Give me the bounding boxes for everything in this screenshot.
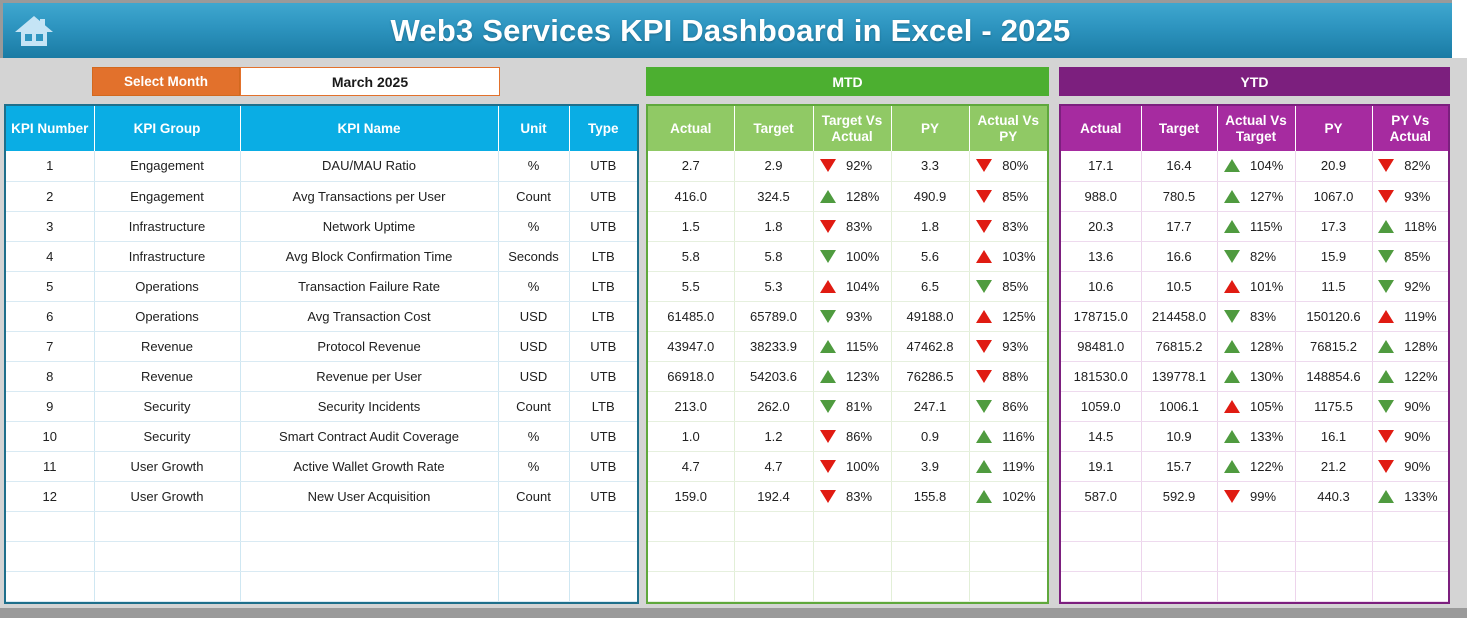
mtd-actual-vs-py-cell: 116% bbox=[969, 421, 1047, 451]
kpi-type-cell: UTB bbox=[569, 211, 637, 241]
kpi-unit-cell: USD bbox=[498, 301, 569, 331]
kpi-type-cell: LTB bbox=[569, 241, 637, 271]
empty-cell bbox=[240, 511, 498, 541]
table-row: 5.85.8100%5.6103% bbox=[648, 241, 1047, 271]
ytd-actual-vs-target-cell: 133% bbox=[1217, 421, 1295, 451]
kpi-number-cell: 4 bbox=[6, 241, 94, 271]
table-row: 2EngagementAvg Transactions per UserCoun… bbox=[6, 181, 637, 211]
table-row: 14.510.9133%16.190% bbox=[1061, 421, 1448, 451]
trend-down-icon bbox=[976, 220, 992, 233]
kpi-group-cell: User Growth bbox=[94, 481, 240, 511]
empty-cell bbox=[1295, 571, 1372, 601]
kpi-name-cell: New User Acquisition bbox=[240, 481, 498, 511]
dashboard-root: Web3 Services KPI Dashboard in Excel - 2… bbox=[0, 0, 1467, 618]
kpi-number-cell: 1 bbox=[6, 151, 94, 181]
trend-up-icon bbox=[1378, 340, 1394, 353]
trend-percent: 128% bbox=[846, 189, 884, 204]
trend-down-icon bbox=[1224, 310, 1240, 323]
kpi-unit-cell: Count bbox=[498, 481, 569, 511]
ytd-py-cell: 15.9 bbox=[1295, 241, 1372, 271]
trend-down-icon bbox=[976, 370, 992, 383]
mtd-header-row: Actual Target Target Vs Actual PY Actual… bbox=[648, 106, 1047, 151]
trend-up-icon bbox=[1224, 190, 1240, 203]
trend-up-icon bbox=[976, 430, 992, 443]
kpi-type-cell: LTB bbox=[569, 271, 637, 301]
trend-percent: 81% bbox=[846, 399, 884, 414]
table-row-empty bbox=[648, 541, 1047, 571]
kpi-unit-cell: Seconds bbox=[498, 241, 569, 271]
ytd-target-cell: 16.6 bbox=[1141, 241, 1217, 271]
trend-percent: 105% bbox=[1250, 399, 1288, 414]
kpi-group-cell: User Growth bbox=[94, 451, 240, 481]
trend-down-icon bbox=[976, 159, 992, 172]
mtd-py-cell: 5.6 bbox=[891, 241, 969, 271]
kpi-unit-cell: % bbox=[498, 211, 569, 241]
trend-percent: 85% bbox=[1002, 279, 1040, 294]
table-row: 1EngagementDAU/MAU Ratio%UTB bbox=[6, 151, 637, 181]
empty-cell bbox=[1372, 511, 1448, 541]
table-row-empty bbox=[648, 571, 1047, 601]
trend-percent: 123% bbox=[846, 369, 884, 384]
table-row: 587.0592.999%440.3133% bbox=[1061, 481, 1448, 511]
ytd-actual-vs-target-cell: 127% bbox=[1217, 181, 1295, 211]
ytd-actual-vs-target-cell: 122% bbox=[1217, 451, 1295, 481]
mtd-actual-cell: 5.8 bbox=[648, 241, 734, 271]
mtd-actual-cell: 1.0 bbox=[648, 421, 734, 451]
kpi-number-cell: 3 bbox=[6, 211, 94, 241]
empty-cell bbox=[1372, 541, 1448, 571]
mtd-target-vs-actual-cell: 100% bbox=[813, 241, 891, 271]
table-row-empty bbox=[648, 511, 1047, 541]
mtd-target-cell: 262.0 bbox=[734, 391, 813, 421]
ytd-py-vs-actual-cell: 82% bbox=[1372, 151, 1448, 181]
table-row: 178715.0214458.083%150120.6119% bbox=[1061, 301, 1448, 331]
table-row: 3InfrastructureNetwork Uptime%UTB bbox=[6, 211, 637, 241]
empty-cell bbox=[1295, 541, 1372, 571]
table-row-empty bbox=[6, 541, 637, 571]
kpi-number-cell: 5 bbox=[6, 271, 94, 301]
ytd-actual-cell: 19.1 bbox=[1061, 451, 1141, 481]
mtd-py-cell: 0.9 bbox=[891, 421, 969, 451]
table-row: 1.51.883%1.883% bbox=[648, 211, 1047, 241]
empty-cell bbox=[734, 571, 813, 601]
mtd-target-cell: 54203.6 bbox=[734, 361, 813, 391]
kpi-name-cell: DAU/MAU Ratio bbox=[240, 151, 498, 181]
ytd-actual-vs-target-cell: 82% bbox=[1217, 241, 1295, 271]
empty-cell bbox=[813, 511, 891, 541]
kpi-name-cell: Transaction Failure Rate bbox=[240, 271, 498, 301]
empty-cell bbox=[648, 541, 734, 571]
kpi-type-cell: UTB bbox=[569, 361, 637, 391]
ytd-py-cell: 16.1 bbox=[1295, 421, 1372, 451]
trend-down-icon bbox=[1378, 460, 1394, 473]
trend-down-icon bbox=[820, 220, 836, 233]
ytd-actual-cell: 178715.0 bbox=[1061, 301, 1141, 331]
kpi-group-cell: Engagement bbox=[94, 151, 240, 181]
mtd-target-vs-actual-cell: 100% bbox=[813, 451, 891, 481]
empty-cell bbox=[498, 571, 569, 601]
trend-down-icon bbox=[820, 159, 836, 172]
trend-percent: 93% bbox=[1404, 189, 1442, 204]
kpi-unit-cell: Count bbox=[498, 391, 569, 421]
mtd-target-cell: 1.2 bbox=[734, 421, 813, 451]
mtd-py-cell: 1.8 bbox=[891, 211, 969, 241]
trend-percent: 100% bbox=[846, 249, 884, 264]
ytd-actual-cell: 988.0 bbox=[1061, 181, 1141, 211]
empty-cell bbox=[1372, 571, 1448, 601]
trend-percent: 119% bbox=[1404, 309, 1442, 324]
kpi-group-cell: Engagement bbox=[94, 181, 240, 211]
trend-percent: 83% bbox=[1250, 309, 1288, 324]
empty-cell bbox=[813, 541, 891, 571]
table-row: 5OperationsTransaction Failure Rate%LTB bbox=[6, 271, 637, 301]
trend-down-icon bbox=[1378, 430, 1394, 443]
empty-cell bbox=[734, 541, 813, 571]
trend-percent: 85% bbox=[1002, 189, 1040, 204]
ytd-band-header: YTD bbox=[1059, 67, 1450, 96]
mtd-target-vs-actual-cell: 86% bbox=[813, 421, 891, 451]
col-ytd-actual-vs-target[interactable]: Actual Vs Target bbox=[1217, 106, 1295, 151]
trend-percent: 128% bbox=[1250, 339, 1288, 354]
ytd-target-cell: 10.9 bbox=[1141, 421, 1217, 451]
trend-down-icon bbox=[820, 250, 836, 263]
ytd-body: 17.116.4104%20.982%988.0780.5127%1067.09… bbox=[1061, 151, 1448, 601]
mtd-target-vs-actual-cell: 115% bbox=[813, 331, 891, 361]
empty-cell bbox=[1141, 511, 1217, 541]
home-icon[interactable] bbox=[13, 12, 55, 50]
trend-down-icon bbox=[1378, 250, 1394, 263]
kpi-name-cell: Active Wallet Growth Rate bbox=[240, 451, 498, 481]
mtd-target-vs-actual-cell: 81% bbox=[813, 391, 891, 421]
mtd-actual-cell: 1.5 bbox=[648, 211, 734, 241]
trend-down-icon bbox=[820, 460, 836, 473]
trend-percent: 99% bbox=[1250, 489, 1288, 504]
ytd-target-cell: 15.7 bbox=[1141, 451, 1217, 481]
mtd-actual-cell: 61485.0 bbox=[648, 301, 734, 331]
trend-up-icon bbox=[820, 340, 836, 353]
trend-up-icon bbox=[1224, 370, 1240, 383]
trend-up-icon bbox=[1378, 310, 1394, 323]
table-row: 13.616.682%15.985% bbox=[1061, 241, 1448, 271]
trend-down-icon bbox=[1378, 280, 1394, 293]
empty-cell bbox=[6, 511, 94, 541]
mtd-target-cell: 1.8 bbox=[734, 211, 813, 241]
ytd-py-cell: 20.9 bbox=[1295, 151, 1372, 181]
kpi-name-cell: Network Uptime bbox=[240, 211, 498, 241]
table-row: 1.01.286%0.9116% bbox=[648, 421, 1047, 451]
trend-percent: 80% bbox=[1002, 158, 1040, 173]
mtd-actual-cell: 159.0 bbox=[648, 481, 734, 511]
trend-percent: 85% bbox=[1404, 249, 1442, 264]
trend-percent: 88% bbox=[1002, 369, 1040, 384]
trend-percent: 83% bbox=[846, 219, 884, 234]
ytd-py-vs-actual-cell: 90% bbox=[1372, 451, 1448, 481]
mtd-actual-cell: 5.5 bbox=[648, 271, 734, 301]
titlebar-right-pad bbox=[1452, 0, 1467, 58]
col-mtd-target-vs-actual[interactable]: Target Vs Actual bbox=[813, 106, 891, 151]
ytd-table: Actual Target Actual Vs Target PY PY Vs … bbox=[1061, 106, 1448, 602]
col-kpi-number[interactable]: KPI Number bbox=[6, 106, 94, 151]
ytd-py-cell: 17.3 bbox=[1295, 211, 1372, 241]
table-row: 8RevenueRevenue per UserUSDUTB bbox=[6, 361, 637, 391]
bottom-bar bbox=[0, 608, 1467, 618]
table-row: 66918.054203.6123%76286.588% bbox=[648, 361, 1047, 391]
table-row-empty bbox=[6, 511, 637, 541]
ytd-actual-vs-target-cell: 128% bbox=[1217, 331, 1295, 361]
trend-down-icon bbox=[820, 400, 836, 413]
col-ytd-py[interactable]: PY bbox=[1295, 106, 1372, 151]
table-row-empty bbox=[1061, 541, 1448, 571]
trend-percent: 83% bbox=[846, 489, 884, 504]
col-ytd-py-vs-actual[interactable]: PY Vs Actual bbox=[1372, 106, 1448, 151]
kpi-unit-cell: % bbox=[498, 421, 569, 451]
ytd-actual-cell: 13.6 bbox=[1061, 241, 1141, 271]
mtd-py-cell: 3.9 bbox=[891, 451, 969, 481]
ytd-actual-vs-target-cell: 105% bbox=[1217, 391, 1295, 421]
trend-down-icon bbox=[976, 340, 992, 353]
mtd-py-cell: 49188.0 bbox=[891, 301, 969, 331]
ytd-actual-vs-target-cell: 101% bbox=[1217, 271, 1295, 301]
ytd-py-vs-actual-cell: 92% bbox=[1372, 271, 1448, 301]
ytd-actual-cell: 10.6 bbox=[1061, 271, 1141, 301]
trend-down-icon bbox=[820, 430, 836, 443]
empty-cell bbox=[498, 511, 569, 541]
mtd-actual-vs-py-cell: 85% bbox=[969, 181, 1047, 211]
kpi-definition-header-row: KPI Number KPI Group KPI Name Unit Type bbox=[6, 106, 637, 151]
mtd-actual-cell: 43947.0 bbox=[648, 331, 734, 361]
col-mtd-actual[interactable]: Actual bbox=[648, 106, 734, 151]
kpi-number-cell: 10 bbox=[6, 421, 94, 451]
mtd-py-cell: 6.5 bbox=[891, 271, 969, 301]
trend-up-icon bbox=[1378, 370, 1394, 383]
ytd-target-cell: 139778.1 bbox=[1141, 361, 1217, 391]
kpi-name-cell: Avg Transaction Cost bbox=[240, 301, 498, 331]
ytd-target-cell: 17.7 bbox=[1141, 211, 1217, 241]
ytd-py-cell: 1175.5 bbox=[1295, 391, 1372, 421]
empty-cell bbox=[969, 571, 1047, 601]
kpi-name-cell: Protocol Revenue bbox=[240, 331, 498, 361]
ytd-target-cell: 10.5 bbox=[1141, 271, 1217, 301]
mtd-py-cell: 76286.5 bbox=[891, 361, 969, 391]
table-row: 61485.065789.093%49188.0125% bbox=[648, 301, 1047, 331]
kpi-name-cell: Avg Block Confirmation Time bbox=[240, 241, 498, 271]
trend-up-icon bbox=[1378, 490, 1394, 503]
col-kpi-name[interactable]: KPI Name bbox=[240, 106, 498, 151]
trend-percent: 122% bbox=[1250, 459, 1288, 474]
table-row-empty bbox=[1061, 511, 1448, 541]
kpi-unit-cell: USD bbox=[498, 331, 569, 361]
kpi-group-cell: Operations bbox=[94, 271, 240, 301]
month-selector[interactable]: March 2025 bbox=[240, 67, 500, 96]
kpi-definition-block: KPI Number KPI Group KPI Name Unit Type … bbox=[4, 104, 639, 604]
col-mtd-actual-vs-py[interactable]: Actual Vs PY bbox=[969, 106, 1047, 151]
kpi-type-cell: UTB bbox=[569, 451, 637, 481]
mtd-body: 2.72.992%3.380%416.0324.5128%490.985%1.5… bbox=[648, 151, 1047, 601]
trend-percent: 122% bbox=[1404, 369, 1442, 384]
kpi-unit-cell: % bbox=[498, 271, 569, 301]
ytd-actual-vs-target-cell: 83% bbox=[1217, 301, 1295, 331]
kpi-definition-body: 1EngagementDAU/MAU Ratio%UTB2EngagementA… bbox=[6, 151, 637, 601]
ytd-py-vs-actual-cell: 128% bbox=[1372, 331, 1448, 361]
page-title: Web3 Services KPI Dashboard in Excel - 2… bbox=[3, 13, 1452, 49]
ytd-py-vs-actual-cell: 133% bbox=[1372, 481, 1448, 511]
empty-cell bbox=[569, 511, 637, 541]
ytd-py-vs-actual-cell: 119% bbox=[1372, 301, 1448, 331]
table-row: 10SecuritySmart Contract Audit Coverage%… bbox=[6, 421, 637, 451]
col-mtd-target[interactable]: Target bbox=[734, 106, 813, 151]
trend-percent: 102% bbox=[1002, 489, 1040, 504]
ytd-target-cell: 214458.0 bbox=[1141, 301, 1217, 331]
mtd-target-cell: 5.3 bbox=[734, 271, 813, 301]
mtd-actual-vs-py-cell: 86% bbox=[969, 391, 1047, 421]
col-ytd-target[interactable]: Target bbox=[1141, 106, 1217, 151]
trend-up-icon bbox=[820, 190, 836, 203]
trend-up-icon bbox=[976, 250, 992, 263]
mtd-actual-vs-py-cell: 125% bbox=[969, 301, 1047, 331]
trend-up-icon bbox=[1224, 280, 1240, 293]
trend-percent: 116% bbox=[1002, 429, 1040, 444]
mtd-target-cell: 65789.0 bbox=[734, 301, 813, 331]
kpi-number-cell: 8 bbox=[6, 361, 94, 391]
col-ytd-actual[interactable]: Actual bbox=[1061, 106, 1141, 151]
col-kpi-group[interactable]: KPI Group bbox=[94, 106, 240, 151]
empty-cell bbox=[969, 541, 1047, 571]
empty-cell bbox=[569, 571, 637, 601]
trend-percent: 101% bbox=[1250, 279, 1288, 294]
empty-cell bbox=[240, 541, 498, 571]
trend-up-icon bbox=[976, 490, 992, 503]
trend-percent: 119% bbox=[1002, 459, 1040, 474]
empty-cell bbox=[1217, 571, 1295, 601]
mtd-actual-vs-py-cell: 102% bbox=[969, 481, 1047, 511]
mtd-actual-cell: 213.0 bbox=[648, 391, 734, 421]
ytd-py-cell: 11.5 bbox=[1295, 271, 1372, 301]
mtd-target-vs-actual-cell: 128% bbox=[813, 181, 891, 211]
table-row: 43947.038233.9115%47462.893% bbox=[648, 331, 1047, 361]
empty-cell bbox=[648, 511, 734, 541]
trend-down-icon bbox=[976, 400, 992, 413]
mtd-table: Actual Target Target Vs Actual PY Actual… bbox=[648, 106, 1047, 602]
trend-percent: 130% bbox=[1250, 369, 1288, 384]
mtd-py-cell: 155.8 bbox=[891, 481, 969, 511]
mtd-target-cell: 5.8 bbox=[734, 241, 813, 271]
ytd-actual-vs-target-cell: 115% bbox=[1217, 211, 1295, 241]
trend-percent: 90% bbox=[1404, 399, 1442, 414]
ytd-actual-cell: 98481.0 bbox=[1061, 331, 1141, 361]
mtd-actual-vs-py-cell: 119% bbox=[969, 451, 1047, 481]
empty-cell bbox=[240, 571, 498, 601]
ytd-py-cell: 148854.6 bbox=[1295, 361, 1372, 391]
ytd-py-vs-actual-cell: 118% bbox=[1372, 211, 1448, 241]
table-row-empty bbox=[1061, 571, 1448, 601]
kpi-type-cell: UTB bbox=[569, 481, 637, 511]
ytd-py-vs-actual-cell: 122% bbox=[1372, 361, 1448, 391]
kpi-group-cell: Security bbox=[94, 421, 240, 451]
mtd-py-cell: 490.9 bbox=[891, 181, 969, 211]
ytd-py-vs-actual-cell: 93% bbox=[1372, 181, 1448, 211]
kpi-group-cell: Infrastructure bbox=[94, 211, 240, 241]
ytd-actual-vs-target-cell: 99% bbox=[1217, 481, 1295, 511]
mtd-target-vs-actual-cell: 83% bbox=[813, 211, 891, 241]
trend-percent: 133% bbox=[1250, 429, 1288, 444]
table-row: 181530.0139778.1130%148854.6122% bbox=[1061, 361, 1448, 391]
ytd-py-vs-actual-cell: 85% bbox=[1372, 241, 1448, 271]
kpi-group-cell: Revenue bbox=[94, 361, 240, 391]
empty-cell bbox=[1061, 511, 1141, 541]
kpi-unit-cell: Count bbox=[498, 181, 569, 211]
table-row: 5.55.3104%6.585% bbox=[648, 271, 1047, 301]
table-row: 2.72.992%3.380% bbox=[648, 151, 1047, 181]
ytd-py-cell: 21.2 bbox=[1295, 451, 1372, 481]
kpi-unit-cell: USD bbox=[498, 361, 569, 391]
mtd-actual-vs-py-cell: 88% bbox=[969, 361, 1047, 391]
empty-cell bbox=[498, 541, 569, 571]
trend-percent: 100% bbox=[846, 459, 884, 474]
table-row: 159.0192.483%155.8102% bbox=[648, 481, 1047, 511]
kpi-type-cell: UTB bbox=[569, 331, 637, 361]
table-row: 6OperationsAvg Transaction CostUSDLTB bbox=[6, 301, 637, 331]
kpi-group-cell: Infrastructure bbox=[94, 241, 240, 271]
ytd-py-vs-actual-cell: 90% bbox=[1372, 421, 1448, 451]
kpi-unit-cell: % bbox=[498, 151, 569, 181]
trend-up-icon bbox=[1378, 220, 1394, 233]
col-type[interactable]: Type bbox=[569, 106, 637, 151]
kpi-group-cell: Operations bbox=[94, 301, 240, 331]
empty-cell bbox=[648, 571, 734, 601]
trend-percent: 93% bbox=[1002, 339, 1040, 354]
col-mtd-py[interactable]: PY bbox=[891, 106, 969, 151]
empty-cell bbox=[969, 511, 1047, 541]
select-month-label: Select Month bbox=[92, 67, 240, 96]
table-row: 11User GrowthActive Wallet Growth Rate%U… bbox=[6, 451, 637, 481]
mtd-target-cell: 38233.9 bbox=[734, 331, 813, 361]
mtd-block: Actual Target Target Vs Actual PY Actual… bbox=[646, 104, 1049, 604]
trend-up-icon bbox=[976, 460, 992, 473]
table-row: 1059.01006.1105%1175.590% bbox=[1061, 391, 1448, 421]
trend-down-icon bbox=[820, 490, 836, 503]
mtd-actual-vs-py-cell: 80% bbox=[969, 151, 1047, 181]
ytd-target-cell: 76815.2 bbox=[1141, 331, 1217, 361]
trend-down-icon bbox=[1378, 400, 1394, 413]
mtd-target-vs-actual-cell: 104% bbox=[813, 271, 891, 301]
mtd-actual-vs-py-cell: 85% bbox=[969, 271, 1047, 301]
empty-cell bbox=[1061, 571, 1141, 601]
ytd-actual-cell: 14.5 bbox=[1061, 421, 1141, 451]
empty-cell bbox=[734, 511, 813, 541]
kpi-group-cell: Revenue bbox=[94, 331, 240, 361]
mtd-actual-vs-py-cell: 83% bbox=[969, 211, 1047, 241]
empty-cell bbox=[813, 571, 891, 601]
kpi-type-cell: UTB bbox=[569, 421, 637, 451]
empty-cell bbox=[1141, 541, 1217, 571]
trend-percent: 86% bbox=[846, 429, 884, 444]
empty-cell bbox=[1295, 511, 1372, 541]
trend-percent: 93% bbox=[846, 309, 884, 324]
col-unit[interactable]: Unit bbox=[498, 106, 569, 151]
kpi-number-cell: 6 bbox=[6, 301, 94, 331]
trend-percent: 104% bbox=[846, 279, 884, 294]
trend-percent: 115% bbox=[1250, 219, 1288, 234]
ytd-target-cell: 592.9 bbox=[1141, 481, 1217, 511]
table-row: 988.0780.5127%1067.093% bbox=[1061, 181, 1448, 211]
trend-down-icon bbox=[1224, 250, 1240, 263]
mtd-actual-cell: 4.7 bbox=[648, 451, 734, 481]
title-bar: Web3 Services KPI Dashboard in Excel - 2… bbox=[0, 0, 1452, 58]
table-row: 213.0262.081%247.186% bbox=[648, 391, 1047, 421]
kpi-type-cell: LTB bbox=[569, 391, 637, 421]
empty-cell bbox=[1217, 541, 1295, 571]
table-row: 12User GrowthNew User AcquisitionCountUT… bbox=[6, 481, 637, 511]
